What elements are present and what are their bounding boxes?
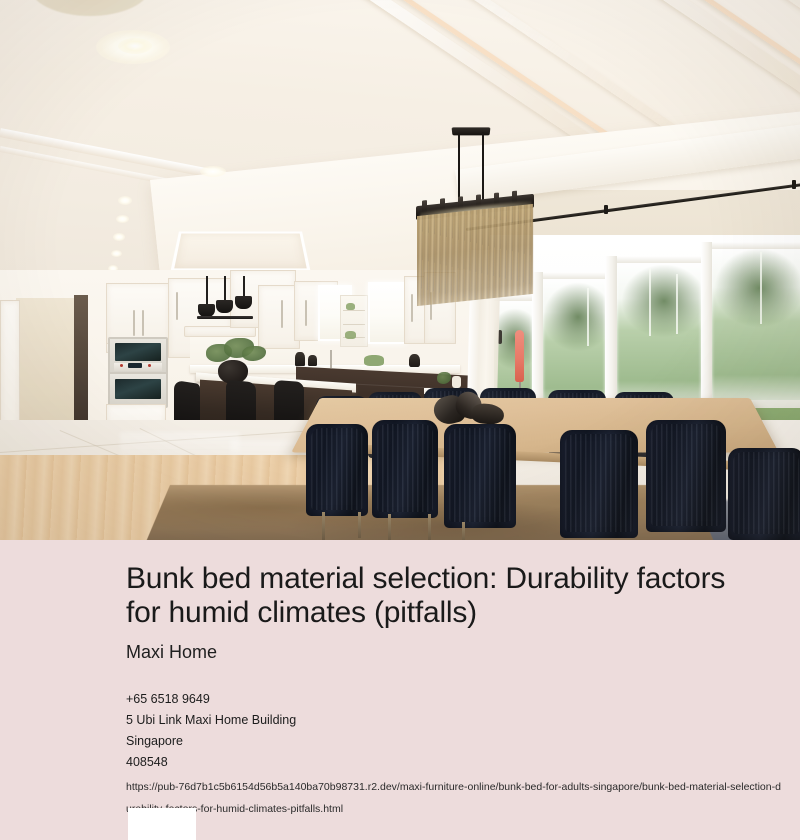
- page-title: Bunk bed material selection: Durability …: [126, 562, 726, 630]
- upper-cabinet: [106, 283, 170, 345]
- chandelier-stem: [482, 132, 484, 202]
- pendant-light-icon: [235, 296, 252, 309]
- oven-display: [128, 363, 142, 368]
- pendant-rail: [197, 316, 253, 319]
- pendant-cord: [243, 276, 245, 298]
- dining-chair: [372, 420, 438, 518]
- tree-foliage: [714, 248, 800, 328]
- wall-oven-upper: [108, 337, 168, 375]
- chair-leg: [322, 512, 325, 540]
- page-root: Bunk bed material selection: Durability …: [0, 0, 800, 840]
- contact-block: +65 6518 9649 5 Ubi Link Maxi Home Build…: [126, 689, 800, 773]
- table-centerpiece: [432, 390, 504, 428]
- chandelier-fringe: [417, 204, 533, 306]
- tray-ceiling: [171, 231, 311, 271]
- shelf: [343, 324, 365, 325]
- dining-chair: [560, 430, 638, 538]
- cabinet-handle: [305, 300, 307, 326]
- countertop-decor: [295, 352, 305, 366]
- plant-decor: [345, 331, 356, 339]
- open-shelving: [340, 295, 368, 347]
- countertop-decor: [308, 355, 317, 366]
- recessed-light-icon: [113, 233, 125, 241]
- window-transom: [617, 256, 701, 263]
- tree-trunk: [587, 288, 589, 346]
- dining-chair: [728, 448, 800, 540]
- recessed-light-icon: [116, 215, 129, 223]
- tree-foliage: [621, 264, 701, 338]
- oven-indicator-light: [148, 364, 151, 367]
- chair-leg: [462, 522, 465, 540]
- sideboard-decor: [452, 376, 461, 388]
- kitchen-window: [368, 282, 406, 344]
- recessed-light-icon: [118, 196, 132, 205]
- contact-city: Singapore: [126, 731, 800, 752]
- chandelier-stem: [458, 134, 460, 200]
- plant-decor: [346, 303, 355, 310]
- tree-foliage: [543, 282, 605, 352]
- pendant-cord: [224, 276, 226, 302]
- article-content: Bunk bed material selection: Durability …: [0, 540, 800, 840]
- oven-indicator-light: [120, 364, 123, 367]
- tree-trunk: [760, 252, 762, 324]
- pendant-light-icon: [216, 300, 233, 313]
- recessed-light-icon: [111, 250, 122, 257]
- dining-chair: [306, 424, 368, 516]
- window-transom: [712, 242, 800, 249]
- chair-leg: [388, 514, 391, 540]
- dining-chair: [444, 424, 516, 528]
- curtain-rod-bracket: [604, 205, 608, 214]
- recessed-light-icon: [118, 38, 152, 54]
- fruit-bowl-greens: [364, 355, 384, 366]
- brand-name: Maxi Home: [126, 642, 800, 663]
- kitchen-faucet: [330, 350, 332, 368]
- oven-glass: [115, 379, 161, 399]
- chair-leg: [428, 514, 431, 540]
- dining-chair: [646, 420, 726, 532]
- cabinet-handle: [142, 310, 144, 336]
- pendant-cord: [206, 276, 208, 306]
- contact-phone[interactable]: +65 6518 9649: [126, 689, 800, 710]
- contact-address-line1: 5 Ubi Link Maxi Home Building: [126, 710, 800, 731]
- shelf: [343, 310, 365, 311]
- recessed-light-icon: [200, 166, 226, 177]
- chair-leg: [358, 512, 361, 538]
- oven-glass: [115, 343, 161, 361]
- source-url-line-2[interactable]: urability-factors-for-humid-climates-pit…: [126, 798, 800, 820]
- brand-logo[interactable]: Furniture Singapore: [128, 808, 196, 840]
- cabinet-handle: [176, 292, 178, 320]
- hero-scene: [0, 0, 800, 540]
- patio-umbrella: [515, 330, 524, 382]
- window-transom: [543, 272, 605, 279]
- wall-oven-lower: [108, 372, 168, 408]
- curtain-rod-bracket: [792, 180, 796, 189]
- cabinet-handle: [281, 300, 283, 328]
- source-url[interactable]: https://pub-76d7b1c5b6154d56b5a140ba70b9…: [126, 776, 800, 820]
- tree-trunk: [676, 274, 678, 334]
- cabinet-handle: [133, 310, 135, 336]
- countertop-decor: [409, 354, 420, 367]
- hero-interior-photo: [0, 0, 800, 540]
- contact-postal-code: 408548: [126, 752, 800, 773]
- centerpiece-form: [471, 402, 505, 425]
- cabinet-handle: [411, 294, 413, 322]
- tree-trunk: [649, 268, 651, 336]
- source-url-line-1[interactable]: https://pub-76d7b1c5b6154d56b5a140ba70b9…: [126, 776, 800, 798]
